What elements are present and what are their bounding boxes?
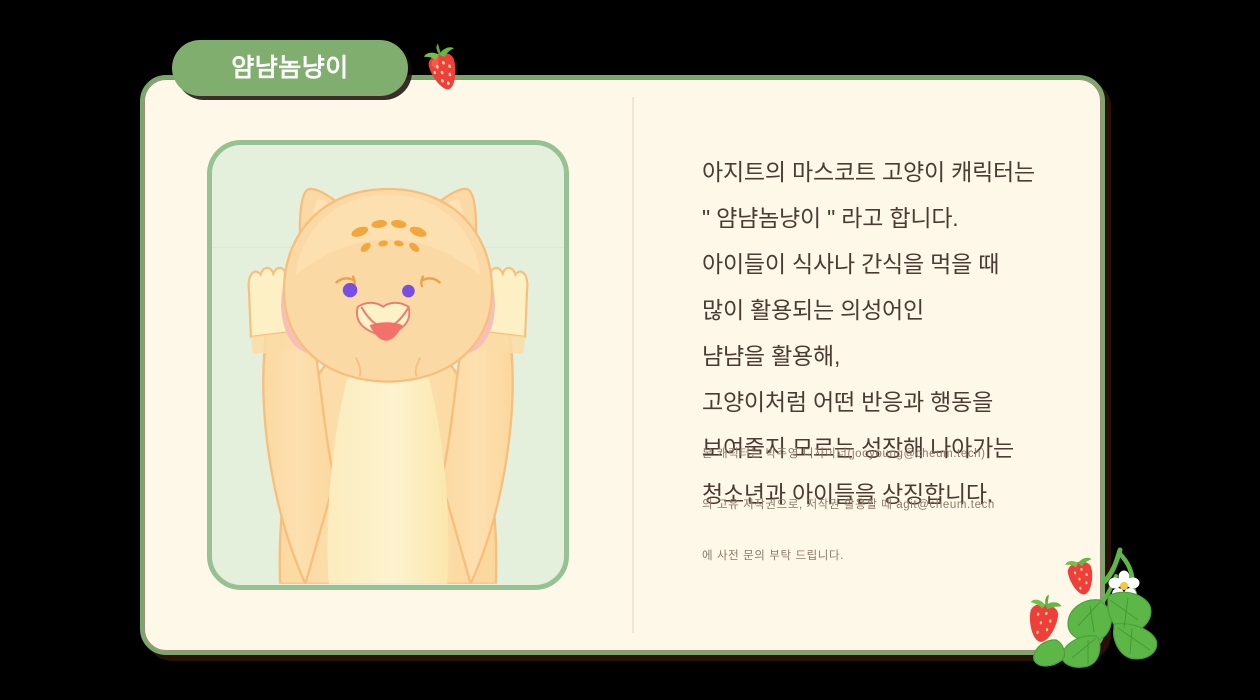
description-line: 많이 활용되는 의성어인 — [702, 287, 1061, 333]
copyright-line: 본 캐릭터는 박주영 디자이너(jooyoung@cheum.tech) — [702, 446, 995, 463]
mascot-illustration-frame — [207, 140, 569, 590]
copyright-line: 에 사전 문의 부탁 드립니다. — [702, 548, 995, 565]
description-line: 냠냠을 활용해, — [702, 333, 1061, 379]
copyright-notice: 본 캐릭터는 박주영 디자이너(jooyoung@cheum.tech) 의 고… — [702, 412, 995, 599]
description-line: 아지트의 마스코트 고양이 캐릭터는 — [702, 149, 1061, 195]
title-badge: 얌냠놈냥이 — [172, 40, 408, 96]
description-line: " 얌냠놈냥이 " 라고 합니다. — [702, 195, 1061, 241]
page-root: 아지트의 마스코트 고양이 캐릭터는 " 얌냠놈냥이 " 라고 합니다. 아이들… — [0, 0, 1260, 700]
strawberry-plant-icon — [1012, 540, 1182, 670]
character-card: 아지트의 마스코트 고양이 캐릭터는 " 얌냠놈냥이 " 라고 합니다. 아이들… — [140, 75, 1105, 655]
description-line: 아이들이 식사나 간식을 먹을 때 — [702, 241, 1061, 287]
title-badge-label: 얌냠놈냥이 — [231, 56, 349, 81]
mascot-cat-illustration — [212, 145, 564, 585]
card-columns: 아지트의 마스코트 고양이 캐릭터는 " 얌냠놈냥이 " 라고 합니다. 아이들… — [144, 79, 1101, 651]
illustration-column — [144, 79, 632, 651]
cat-eye-right — [402, 285, 415, 298]
cat-eye-left — [343, 283, 358, 298]
copyright-line: 의 고유 저작권으로, 저작권 활용할 때 agit@cheum.tech — [702, 497, 995, 514]
strawberry-icon — [418, 42, 470, 98]
